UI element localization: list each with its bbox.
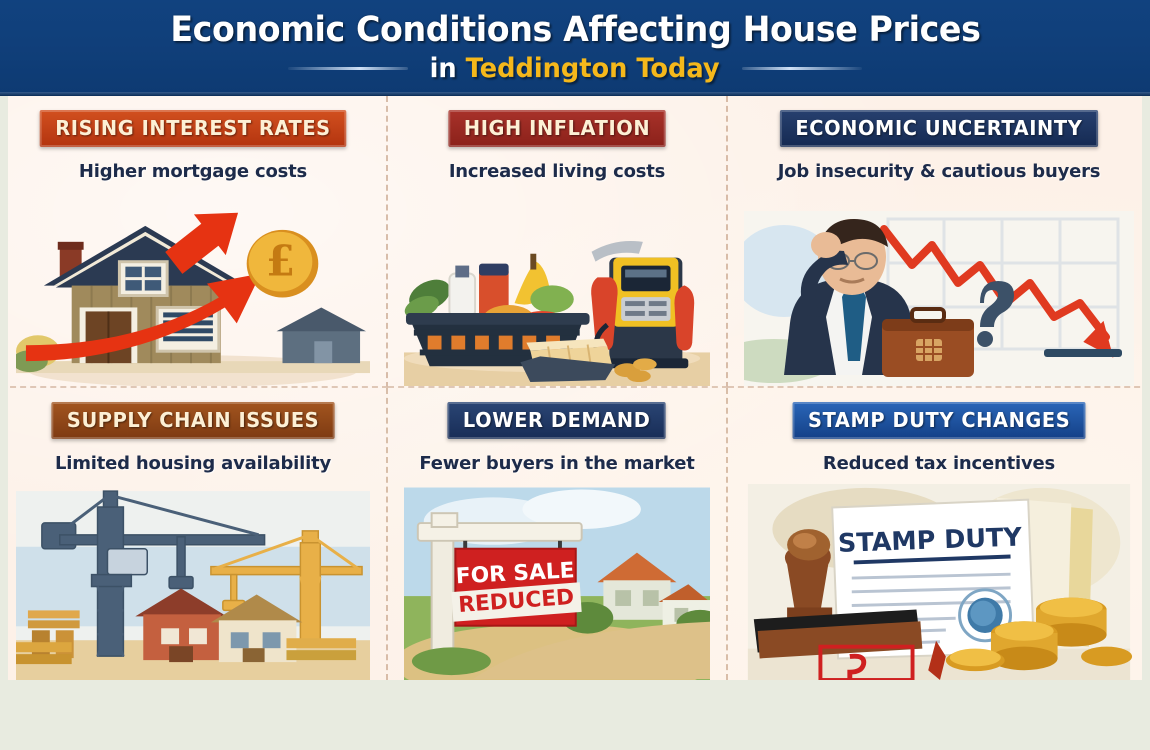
subtitle-prefix: in xyxy=(430,53,466,84)
title-rule-right xyxy=(742,67,862,70)
card-supply-chain-issues[interactable]: SUPPLY CHAIN ISSUES Limited housing avai… xyxy=(0,388,388,680)
subtitle-location: Teddington Today xyxy=(466,53,720,84)
footer-band xyxy=(0,680,1150,750)
illustration-construction-cranes-and-houses xyxy=(16,484,370,680)
card-banner-rising-interest-rates: RISING INTEREST RATES xyxy=(40,110,347,147)
illustration-for-sale-reduced-sign: FOR SALE REDUCED xyxy=(404,484,710,680)
svg-text:STAMP DUTY: STAMP DUTY xyxy=(837,522,1022,558)
card-lower-demand[interactable]: LOWER DEMAND Fewer buyers in the market xyxy=(388,388,728,680)
infographic-poster: Economic Conditions Affecting House Pric… xyxy=(0,0,1150,750)
card-rising-interest-rates[interactable]: RISING INTEREST RATES Higher mortgage co… xyxy=(0,96,388,388)
card-subtitle-rising-interest-rates: Higher mortgage costs xyxy=(79,161,307,182)
card-banner-supply-chain-issues: SUPPLY CHAIN ISSUES xyxy=(51,402,334,439)
card-banner-lower-demand: LOWER DEMAND xyxy=(448,402,667,439)
card-subtitle-stamp-duty-changes: Reduced tax incentives xyxy=(823,453,1055,474)
card-subtitle-supply-chain-issues: Limited housing availability xyxy=(55,453,331,474)
card-stamp-duty-changes[interactable]: STAMP DUTY CHANGES Reduced tax incentive… xyxy=(728,388,1150,680)
right-page-edge xyxy=(1142,96,1150,680)
left-page-edge xyxy=(0,96,8,680)
card-subtitle-lower-demand: Fewer buyers in the market xyxy=(419,453,694,474)
card-high-inflation[interactable]: HIGH INFLATION Increased living costs xyxy=(388,96,728,388)
svg-text:£: £ xyxy=(266,237,295,286)
cards-grid: RISING INTEREST RATES Higher mortgage co… xyxy=(0,96,1150,680)
illustration-grocery-basket-and-fuel-pump xyxy=(404,192,710,386)
title-rule-left xyxy=(288,67,408,70)
card-banner-high-inflation: HIGH INFLATION xyxy=(448,110,665,147)
card-subtitle-high-inflation: Increased living costs xyxy=(449,161,665,182)
header-banner: Economic Conditions Affecting House Pric… xyxy=(0,0,1150,96)
page-subtitle: in Teddington Today xyxy=(430,53,720,84)
page-subtitle-row: in Teddington Today xyxy=(288,53,861,84)
card-economic-uncertainty[interactable]: ECONOMIC UNCERTAINTY Job insecurity & ca… xyxy=(728,96,1150,388)
card-banner-economic-uncertainty: ECONOMIC UNCERTAINTY xyxy=(780,110,1098,147)
page-title: Economic Conditions Affecting House Pric… xyxy=(170,12,980,49)
card-banner-stamp-duty-changes: STAMP DUTY CHANGES xyxy=(792,402,1085,439)
illustration-house-with-rising-arrows-and-pound-coin: £ xyxy=(16,192,370,386)
illustration-worried-businessman-with-falling-chart xyxy=(744,192,1134,386)
illustration-stamp-duty-document-with-stamp-and-coins: STAMP DUTY xyxy=(744,484,1134,680)
card-subtitle-economic-uncertainty: Job insecurity & cautious buyers xyxy=(778,161,1101,182)
